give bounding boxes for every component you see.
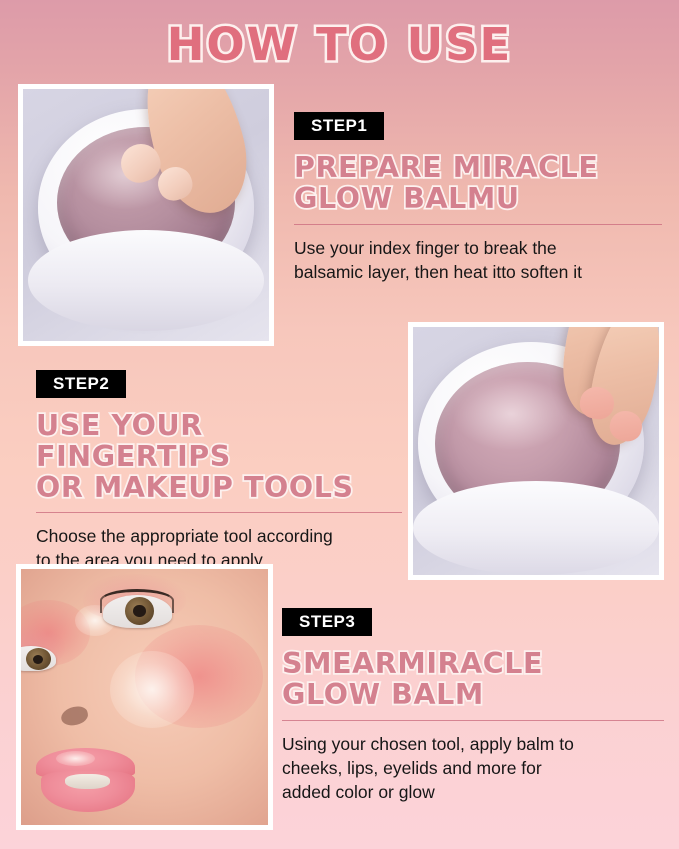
step2-divider [36, 512, 402, 513]
step-2: STEP2 USE YOUR FINGERTIPS OR MAKEUP TOOL… [36, 370, 402, 573]
step-1: STEP1 PREPARE MIRACLE GLOW BALMU Use you… [294, 112, 662, 284]
step-3: STEP3 SMEARMIRACLE GLOW BALM Using your … [282, 608, 664, 804]
step1-heading: PREPARE MIRACLE GLOW BALMU [294, 153, 662, 215]
step3-image-scene [21, 569, 268, 825]
step1-image [18, 84, 274, 346]
jar-rim [413, 481, 659, 575]
teeth [65, 774, 109, 789]
step1-image-scene [23, 89, 269, 341]
step2-image [408, 322, 664, 580]
page-title-wrap: HOW TO USE [0, 22, 679, 67]
step3-body: Using your chosen tool, apply balm to ch… [282, 732, 664, 804]
step2-heading: USE YOUR FINGERTIPS OR MAKEUP TOOLS [36, 411, 402, 503]
lip-gloss-highlight [56, 751, 96, 766]
step1-badge: STEP1 [294, 112, 384, 140]
step1-body: Use your index finger to break the balsa… [294, 236, 662, 284]
cheek-highlight [110, 651, 194, 728]
step3-image [16, 564, 273, 830]
step1-divider [294, 224, 662, 225]
step2-image-scene [413, 327, 659, 575]
step3-badge: STEP3 [282, 608, 372, 636]
page-title: HOW TO USE [167, 22, 513, 67]
eyelash-right [100, 589, 174, 612]
step3-divider [282, 720, 664, 721]
step3-heading: SMEARMIRACLE GLOW BALM [282, 649, 664, 711]
step2-badge: STEP2 [36, 370, 126, 398]
jar-rim [28, 230, 264, 331]
